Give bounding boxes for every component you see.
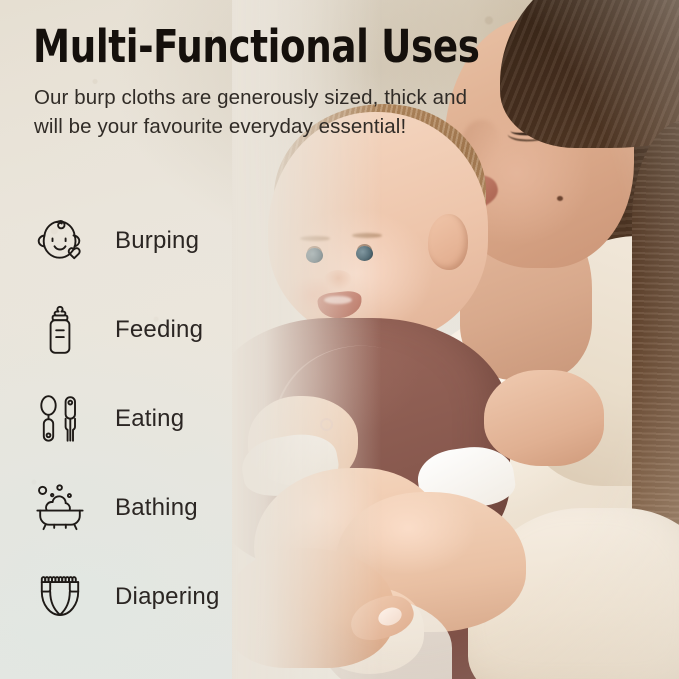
feature-label: Feeding — [115, 316, 203, 344]
diaper-icon — [32, 573, 88, 621]
spoon-fork-icon — [32, 394, 88, 444]
bathtub-icon — [32, 483, 88, 533]
product-feature-poster: Multi-Functional Uses Our burp cloths ar… — [0, 0, 679, 679]
feature-label: Eating — [115, 405, 184, 433]
page-subtitle: Our burp cloths are generously sized, th… — [34, 83, 484, 141]
page-title: Multi-Functional Uses — [33, 22, 480, 72]
feature-label: Bathing — [115, 494, 198, 522]
feature-label: Burping — [115, 227, 199, 255]
feature-item-bathing: Bathing — [0, 463, 270, 552]
feature-item-diapering: Diapering — [0, 552, 270, 641]
feature-item-burping: Burping — [0, 196, 270, 285]
feature-list: Burping Feeding — [0, 196, 270, 641]
feature-item-eating: Eating — [0, 374, 270, 463]
baby-face-icon — [32, 218, 88, 264]
baby-bottle-icon — [32, 305, 88, 355]
feature-label: Diapering — [115, 583, 220, 611]
feature-item-feeding: Feeding — [0, 285, 270, 374]
